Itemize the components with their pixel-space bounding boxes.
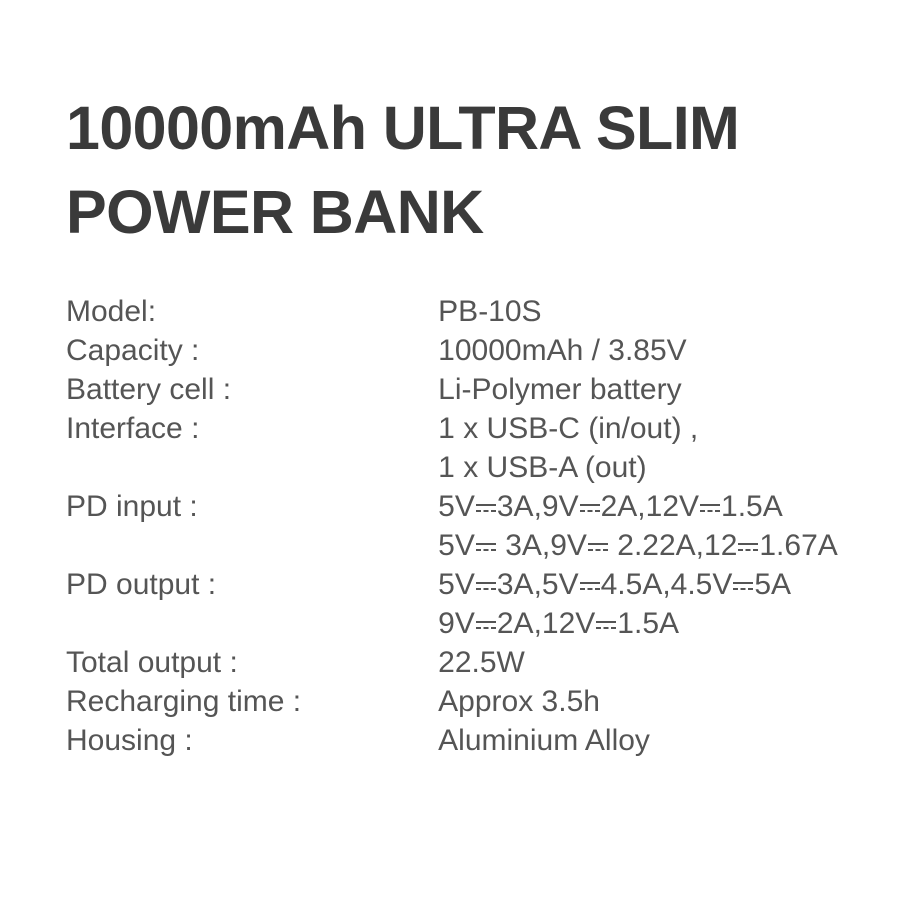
spec-row: Total output :22.5W (66, 643, 886, 682)
page-title-line-1: 10000mAh ULTRA SLIM (66, 86, 866, 170)
spec-value-line: 5V 3A,9V 2.22A,121.67A (438, 526, 886, 565)
dc-current-symbol-icon (580, 579, 600, 593)
dc-current-symbol-icon (476, 501, 496, 515)
spec-value-line: 9V2A,12V1.5A (438, 604, 886, 643)
dc-current-symbol-icon (738, 540, 758, 554)
spec-row: Housing :Aluminium Alloy (66, 721, 886, 760)
spec-row: Interface :1 x USB-C (in/out) ,1 x USB-A… (66, 409, 886, 487)
spec-row: PD input :5V3A,9V2A,12V1.5A5V 3A,9V 2.22… (66, 487, 886, 565)
spec-value: 5V3A,9V2A,12V1.5A5V 3A,9V 2.22A,121.67A (438, 487, 886, 565)
spec-value-line: 1 x USB-A (out) (438, 448, 886, 487)
specification-table-body: Model:PB-10SCapacity :10000mAh / 3.85VBa… (66, 292, 886, 760)
spec-value-line: 22.5W (438, 643, 886, 682)
spec-value-line: 5V3A,9V2A,12V1.5A (438, 487, 886, 526)
spec-value-line: 1 x USB-C (in/out) , (438, 409, 886, 448)
spec-label: Battery cell : (66, 370, 438, 409)
spec-label: Total output : (66, 643, 438, 682)
spec-row: Recharging time :Approx 3.5h (66, 682, 886, 721)
product-spec-sheet: 10000mAh ULTRA SLIM POWER BANK Model:PB-… (0, 0, 900, 900)
spec-value: 10000mAh / 3.85V (438, 331, 886, 370)
spec-value: Li-Polymer battery (438, 370, 886, 409)
spec-row: PD output :5V3A,5V4.5A,4.5V5A9V2A,12V1.5… (66, 565, 886, 643)
spec-value-line: 5V3A,5V4.5A,4.5V5A (438, 565, 886, 604)
spec-label: Model: (66, 292, 438, 331)
specification-table: Model:PB-10SCapacity :10000mAh / 3.85VBa… (66, 292, 886, 760)
dc-current-symbol-icon (700, 501, 720, 515)
spec-value: 5V3A,5V4.5A,4.5V5A9V2A,12V1.5A (438, 565, 886, 643)
spec-row: Capacity :10000mAh / 3.85V (66, 331, 886, 370)
spec-value: PB-10S (438, 292, 886, 331)
spec-label: Interface : (66, 409, 438, 487)
spec-label: Housing : (66, 721, 438, 760)
spec-label: PD input : (66, 487, 438, 565)
spec-value-line: Approx 3.5h (438, 682, 886, 721)
spec-value: 22.5W (438, 643, 886, 682)
dc-current-symbol-icon (476, 579, 496, 593)
dc-current-symbol-icon (476, 540, 496, 554)
dc-current-symbol-icon (476, 618, 496, 632)
dc-current-symbol-icon (596, 618, 616, 632)
spec-value-line: PB-10S (438, 292, 886, 331)
spec-row: Model:PB-10S (66, 292, 886, 331)
spec-label: Recharging time : (66, 682, 438, 721)
spec-value: 1 x USB-C (in/out) ,1 x USB-A (out) (438, 409, 886, 487)
spec-value-line: Aluminium Alloy (438, 721, 886, 760)
spec-row: Battery cell :Li-Polymer battery (66, 370, 886, 409)
spec-value: Approx 3.5h (438, 682, 886, 721)
spec-value-line: Li-Polymer battery (438, 370, 886, 409)
page-title: 10000mAh ULTRA SLIM POWER BANK (66, 86, 866, 254)
dc-current-symbol-icon (580, 501, 600, 515)
dc-current-symbol-icon (588, 540, 608, 554)
spec-label: Capacity : (66, 331, 438, 370)
spec-value: Aluminium Alloy (438, 721, 886, 760)
page-title-line-2: POWER BANK (66, 170, 866, 254)
dc-current-symbol-icon (733, 579, 753, 593)
spec-label: PD output : (66, 565, 438, 643)
spec-value-line: 10000mAh / 3.85V (438, 331, 886, 370)
